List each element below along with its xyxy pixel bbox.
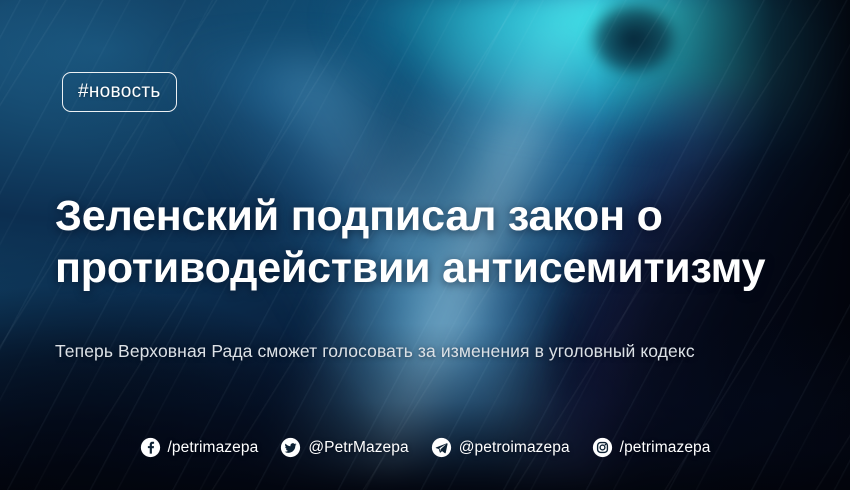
social-handle-telegram: @petroimazepa bbox=[459, 439, 570, 457]
social-handle-twitter: @PetrMazepa bbox=[308, 439, 408, 457]
social-links-bar: /petrimazepa @PetrMazepa @petroimazepa bbox=[0, 437, 850, 458]
instagram-icon bbox=[592, 437, 613, 458]
subtitle: Теперь Верховная Рада сможет голосовать … bbox=[55, 339, 815, 363]
social-link-facebook[interactable]: /petrimazepa bbox=[140, 437, 259, 458]
twitter-icon bbox=[280, 437, 301, 458]
facebook-icon bbox=[140, 437, 161, 458]
social-link-instagram[interactable]: /petrimazepa bbox=[592, 437, 711, 458]
social-handle-instagram: /petrimazepa bbox=[620, 439, 711, 457]
social-handle-facebook: /petrimazepa bbox=[168, 439, 259, 457]
telegram-icon bbox=[431, 437, 452, 458]
headline: Зеленский подписал закон о противодейств… bbox=[55, 190, 785, 294]
category-badge[interactable]: #новость bbox=[62, 72, 177, 112]
social-link-twitter[interactable]: @PetrMazepa bbox=[280, 437, 408, 458]
news-card: #новость Зеленский подписал закон о прот… bbox=[0, 0, 850, 490]
social-link-telegram[interactable]: @petroimazepa bbox=[431, 437, 570, 458]
category-badge-label: #новость bbox=[78, 81, 161, 103]
card-content: #новость Зеленский подписал закон о прот… bbox=[0, 0, 850, 490]
